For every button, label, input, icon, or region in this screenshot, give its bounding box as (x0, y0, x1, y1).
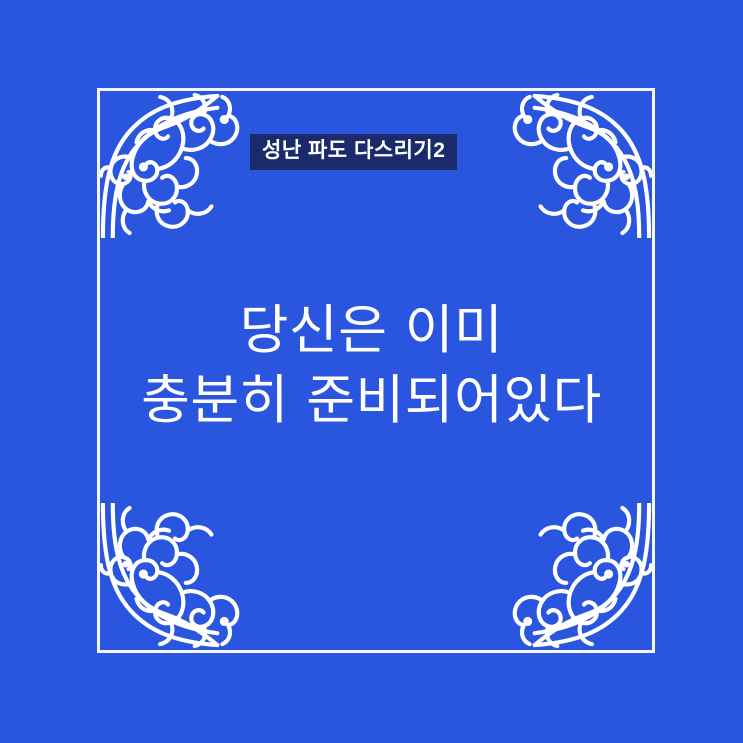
quote-card: 성난 파도 다스리기2 당신은 이미 충분히 준비되어있다 (0, 0, 743, 743)
corner-ornament-bottom-right (507, 503, 655, 653)
corner-ornament-bottom-left (97, 503, 245, 653)
series-title-badge: 성난 파도 다스리기2 (250, 134, 457, 170)
corner-ornament-top-left (97, 88, 245, 238)
quote-line-2: 충분히 준비되어있다 (0, 366, 743, 436)
quote-line-1: 당신은 이미 (0, 296, 743, 366)
corner-ornament-top-right (507, 88, 655, 238)
quote-headline: 당신은 이미 충분히 준비되어있다 (0, 296, 743, 437)
